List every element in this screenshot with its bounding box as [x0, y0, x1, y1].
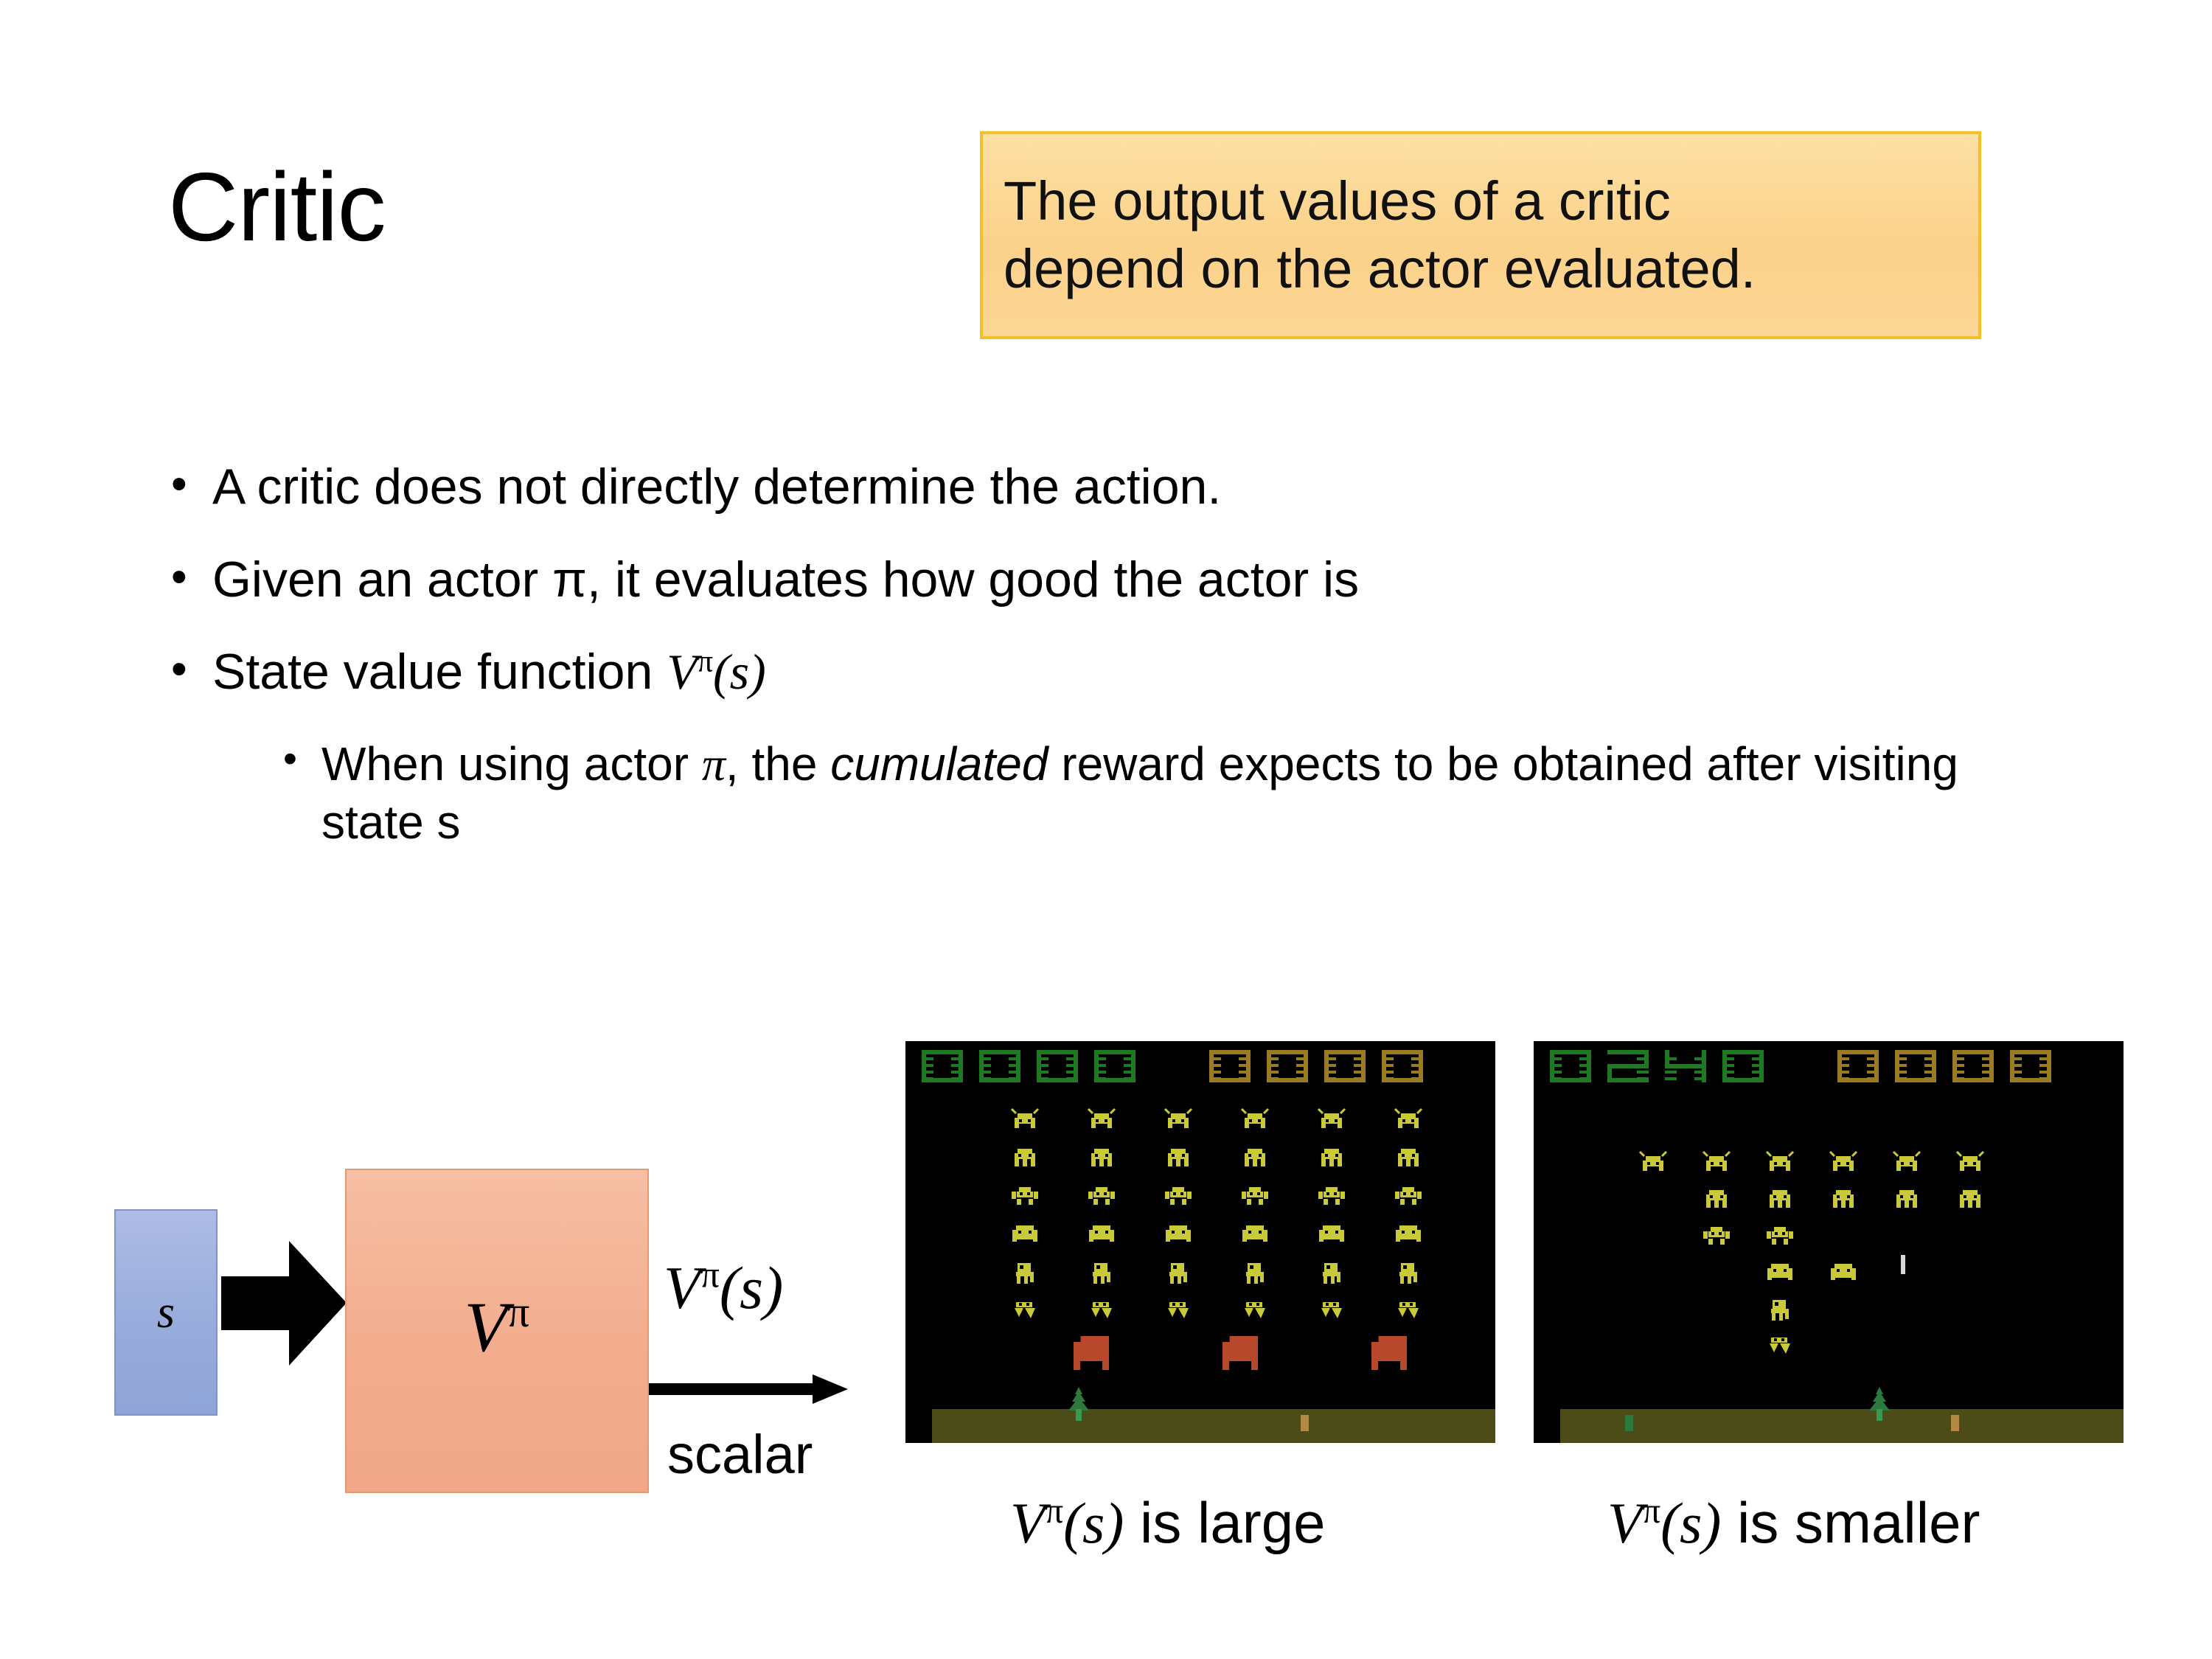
math-pi-superscript: π: [698, 644, 713, 679]
score-player1-right: [1550, 1050, 1764, 1082]
callout-line-2: depend on the actor evaluated.: [1004, 235, 1958, 303]
caption-right-V: V: [1607, 1491, 1643, 1555]
bullet-text-2: Given an actor π, it evaluates how good …: [212, 550, 1359, 611]
alien-sprite-icon: [1239, 1107, 1271, 1133]
alien-sprite-icon: [1315, 1222, 1348, 1248]
callout-line-1: The output values of a critic: [1004, 167, 1958, 235]
alien-sprite-icon: [1392, 1107, 1425, 1133]
alien-sprite-icon: [1085, 1146, 1118, 1171]
caption-right-args: (s): [1660, 1491, 1721, 1555]
alien-sprite-icon: [1315, 1146, 1348, 1171]
sub-emphasis: cumulated: [830, 737, 1048, 790]
score-digit: [1267, 1050, 1308, 1082]
alien-sprite-icon: [1827, 1150, 1860, 1175]
alien-sprite-icon: [1162, 1146, 1194, 1171]
alien-sprite-icon: [1009, 1184, 1041, 1209]
alien-sprite-icon: [1009, 1146, 1041, 1171]
scoreboard-right: [1534, 1050, 2124, 1084]
alien-sprite-icon: [1637, 1150, 1669, 1175]
life-marker: [1951, 1415, 1959, 1431]
score-digit: [1382, 1050, 1423, 1082]
value-function-box: Vπ: [345, 1169, 649, 1493]
alien-sprite-icon: [1764, 1298, 1796, 1323]
alien-sprite-icon: [1315, 1261, 1348, 1286]
score-digit: [2010, 1050, 2051, 1082]
score-player2-left: [1209, 1050, 1423, 1082]
alien-sprite-icon: [1085, 1222, 1118, 1248]
alien-sprite-icon: [1764, 1261, 1796, 1286]
alien-sprite-icon: [1239, 1222, 1271, 1248]
sub-bullet-item: • When using actor π, the cumulated rewa…: [283, 735, 2088, 852]
sub-part-1: When using actor: [321, 737, 702, 790]
caption-left: Vπ(s) is large: [1010, 1489, 1326, 1557]
shield-sprite: [1371, 1336, 1407, 1370]
score-player1-left: [922, 1050, 1135, 1082]
alien-sprite-icon: [1315, 1299, 1348, 1324]
alien-sprite-icon: [1827, 1187, 1860, 1212]
value-function-pi: π: [507, 1287, 529, 1336]
alien-sprite-icon: [1700, 1150, 1733, 1175]
scoreboard-left: [905, 1050, 1495, 1084]
bullet-item-1: • A critic does not directly determine t…: [171, 457, 2088, 518]
alien-sprite-icon: [1239, 1261, 1271, 1286]
scalar-label: scalar: [667, 1423, 813, 1486]
page-title: Critic: [168, 159, 386, 256]
alien-sprite-icon: [1891, 1150, 1923, 1175]
alien-sprite-icon: [1891, 1187, 1923, 1212]
bullet-text-3: State value function Vπ(s): [212, 642, 766, 703]
pi-symbol: π: [552, 552, 587, 608]
shield-sprite: [1222, 1336, 1258, 1370]
player-cannon-icon: [1867, 1387, 1892, 1421]
caption-left-args: (s): [1063, 1491, 1124, 1555]
alien-sprite-icon: [1392, 1299, 1425, 1324]
alien-sprite-icon: [1009, 1222, 1041, 1248]
alien-sprite-icon: [1392, 1184, 1425, 1209]
alien-sprite-icon: [1085, 1261, 1118, 1286]
bullet-marker-icon: •: [171, 457, 212, 511]
score-digit: [1037, 1050, 1078, 1082]
output-args: (s): [720, 1254, 784, 1321]
alien-sprite-icon: [1392, 1222, 1425, 1248]
ground-left: [905, 1409, 1495, 1443]
score-digit: [979, 1050, 1020, 1082]
thick-right-arrow-icon: [221, 1235, 347, 1371]
player-cannon-icon: [1066, 1387, 1091, 1421]
alien-sprite-icon: [1009, 1261, 1041, 1286]
projectile-icon: [1901, 1255, 1905, 1274]
score-digit: [1895, 1050, 1936, 1082]
life-marker: [1625, 1415, 1633, 1431]
score-digit: [922, 1050, 963, 1082]
sub-bullet-marker-icon: •: [283, 735, 321, 783]
bullet-text-1: A critic does not directly determine the…: [212, 457, 1221, 518]
shield-sprite: [1074, 1336, 1109, 1370]
alien-sprite-icon: [1009, 1107, 1041, 1133]
caption-right-text: is smaller: [1721, 1490, 1980, 1555]
alien-sprite-icon: [1392, 1146, 1425, 1171]
score-digit: [1324, 1050, 1366, 1082]
score-digit: [1550, 1050, 1591, 1082]
caption-right: Vπ(s) is smaller: [1607, 1489, 1980, 1557]
value-function-V: V: [465, 1287, 508, 1366]
alien-sprite-icon: [1239, 1184, 1271, 1209]
bullet-marker-icon: •: [171, 550, 212, 604]
bullet-list: • A critic does not directly determine t…: [171, 457, 2088, 867]
alien-sprite-icon: [1392, 1261, 1425, 1286]
alien-sprite-icon: [1162, 1107, 1194, 1133]
alien-sprite-icon: [1162, 1299, 1194, 1324]
caption-left-V: V: [1010, 1491, 1046, 1555]
caption-left-pi: π: [1046, 1492, 1063, 1531]
alien-sprite-icon: [1764, 1187, 1796, 1212]
alien-sprite-icon: [1085, 1107, 1118, 1133]
bullet-text-2-before: Given an actor: [212, 552, 552, 608]
alien-sprite-icon: [1700, 1224, 1733, 1249]
bullet-marker-icon: •: [171, 642, 212, 696]
math-V: V: [667, 644, 698, 700]
caption-right-pi: π: [1643, 1492, 1660, 1531]
score-digit: [1837, 1050, 1879, 1082]
alien-sprite-icon: [1085, 1184, 1118, 1209]
caption-left-text: is large: [1124, 1490, 1325, 1555]
ground-notch: [1534, 1409, 1560, 1443]
alien-sprite-icon: [1162, 1184, 1194, 1209]
alien-sprite-icon: [1315, 1184, 1348, 1209]
alien-sprite-icon: [1009, 1299, 1041, 1324]
score-digit: [1607, 1050, 1649, 1082]
right-arrow-icon: [649, 1373, 848, 1405]
alien-sprite-icon: [1827, 1261, 1860, 1286]
callout-box: The output values of a critic depend on …: [980, 131, 1981, 339]
alien-sprite-icon: [1954, 1150, 1986, 1175]
alien-sprite-icon: [1764, 1335, 1796, 1360]
alien-sprite-icon: [1700, 1187, 1733, 1212]
output-pi: π: [700, 1254, 720, 1295]
alien-sprite-icon: [1954, 1187, 1986, 1212]
state-input-box: s: [114, 1209, 218, 1416]
alien-sprite-icon: [1764, 1150, 1796, 1175]
bullet-item-3: • State value function Vπ(s): [171, 642, 2088, 703]
math-args: (s): [713, 644, 766, 700]
alien-sprite-icon: [1239, 1146, 1271, 1171]
game-screenshot-right: [1534, 1041, 2124, 1443]
output-value-label: Vπ(s): [664, 1253, 783, 1323]
ground-notch: [905, 1409, 932, 1443]
critic-diagram: s Vπ Vπ(s) scalar: [0, 1032, 885, 1548]
alien-sprite-icon: [1162, 1261, 1194, 1286]
alien-sprite-icon: [1764, 1224, 1796, 1249]
state-box-label: s: [157, 1287, 175, 1339]
alien-sprite-icon: [1085, 1299, 1118, 1324]
score-digit: [1094, 1050, 1135, 1082]
bullet-text-3-before: State value function: [212, 644, 667, 700]
score-digit: [1952, 1050, 1994, 1082]
pi-symbol: π: [702, 738, 726, 790]
score-player2-right: [1837, 1050, 2051, 1082]
alien-sprite-icon: [1162, 1222, 1194, 1248]
score-digit: [1665, 1050, 1706, 1082]
score-digit: [1722, 1050, 1764, 1082]
bullet-text-2-after: , it evaluates how good the actor is: [587, 552, 1359, 608]
output-V: V: [664, 1254, 700, 1321]
bullet-item-2: • Given an actor π, it evaluates how goo…: [171, 550, 2088, 611]
value-function-label: Vπ: [465, 1286, 530, 1368]
alien-sprite-icon: [1239, 1299, 1271, 1324]
game-screenshot-left: [905, 1041, 1495, 1443]
sub-bullet-text: When using actor π, the cumulated reward…: [321, 735, 1980, 852]
life-marker: [1301, 1415, 1309, 1431]
alien-sprite-icon: [1315, 1107, 1348, 1133]
score-digit: [1209, 1050, 1251, 1082]
ground-right: [1534, 1409, 2124, 1443]
sub-part-2: , the: [726, 737, 830, 790]
